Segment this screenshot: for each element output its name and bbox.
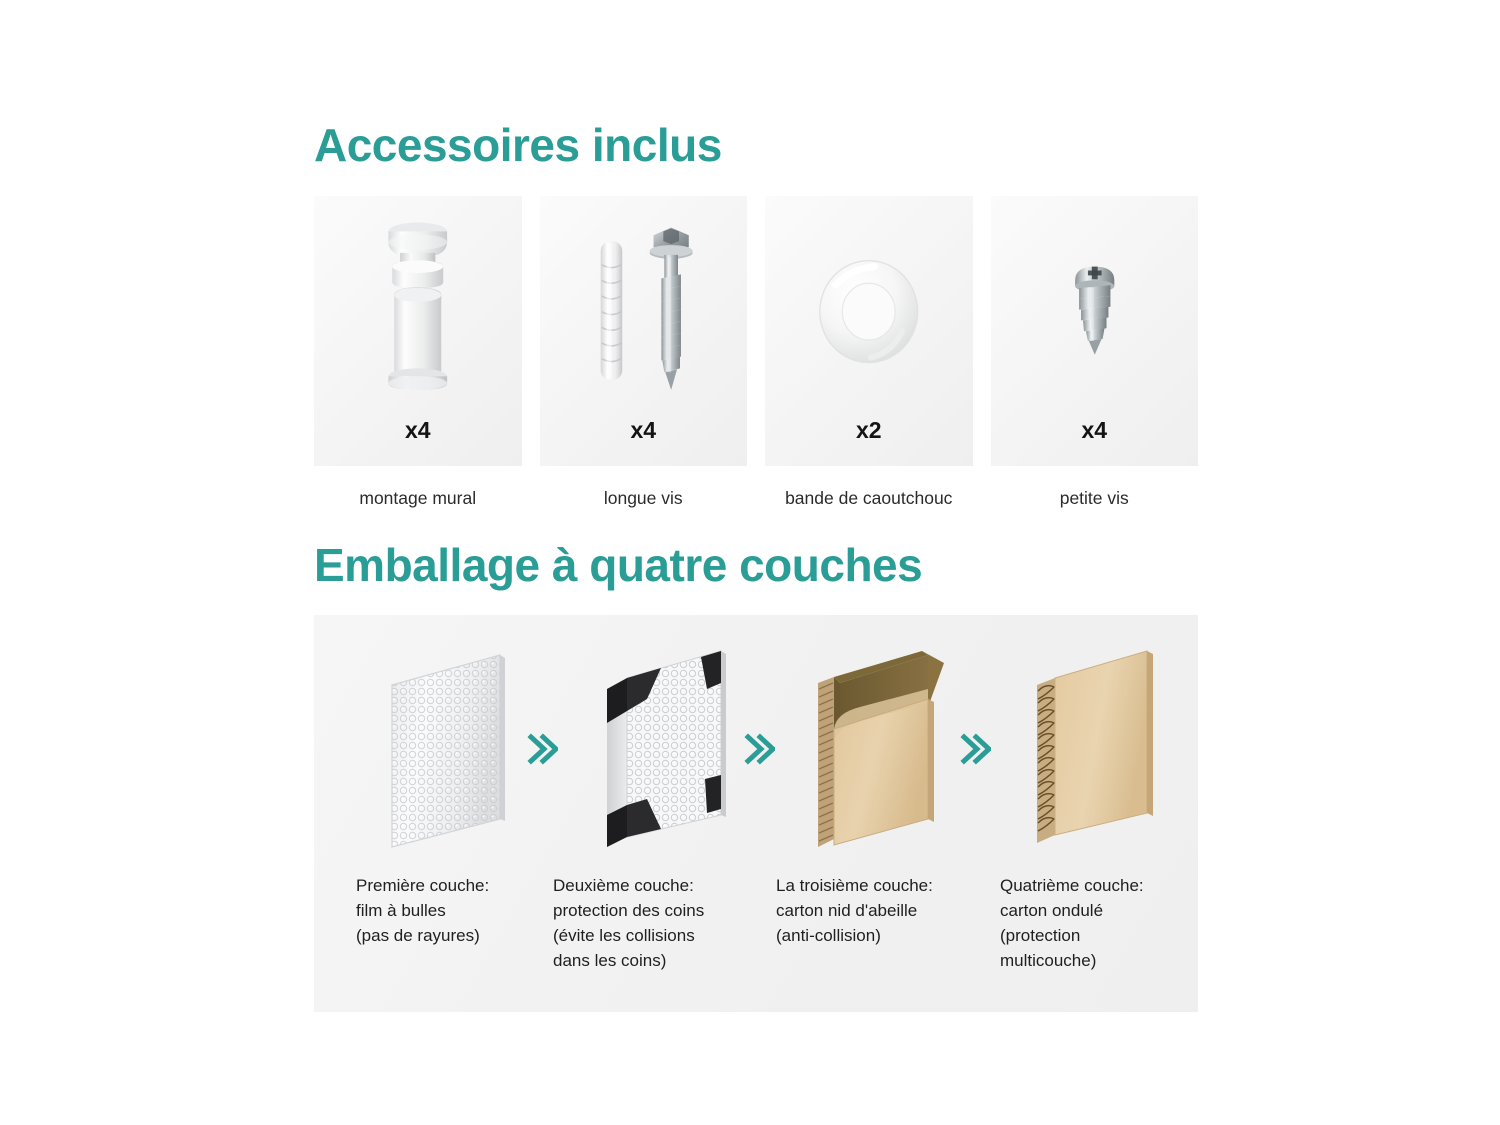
wall-mount-bracket-icon bbox=[314, 202, 522, 414]
caption-line: (pas de rayures) bbox=[356, 923, 561, 948]
caption-line: Deuxième couche: bbox=[553, 873, 758, 898]
double-chevron-right-icon bbox=[524, 729, 558, 769]
accessory-item: x4 montage mural bbox=[314, 196, 522, 509]
packaging-layer-caption: Première couche: film à bulles (pas de r… bbox=[356, 873, 561, 948]
double-chevron-right-icon bbox=[957, 729, 991, 769]
caption-line: dans les coins) bbox=[553, 948, 758, 973]
packaging-panel: Première couche: film à bulles (pas de r… bbox=[314, 615, 1198, 1012]
accessories-heading: Accessoires inclus bbox=[314, 118, 722, 172]
wall-plug-and-long-screw-icon bbox=[540, 202, 748, 414]
caption-line: (anti-collision) bbox=[776, 923, 981, 948]
small-screw-icon bbox=[991, 202, 1199, 414]
bubble-wrap-sheet-icon bbox=[372, 633, 532, 861]
accessories-section: x4 montage mural bbox=[314, 196, 1198, 509]
caption-line: film à bulles bbox=[356, 898, 561, 923]
accessory-quantity: x4 bbox=[991, 417, 1199, 444]
accessory-item: x2 bande de caoutchouc bbox=[765, 196, 973, 509]
accessory-item: x4 petite vis bbox=[991, 196, 1199, 509]
honeycomb-cardboard-icon bbox=[804, 633, 964, 861]
accessory-quantity: x4 bbox=[540, 417, 748, 444]
accessory-card: x2 bbox=[765, 196, 973, 466]
corner-protection-panel-icon bbox=[589, 633, 749, 861]
packaging-illustration-row bbox=[314, 633, 1198, 861]
caption-line: La troisième couche: bbox=[776, 873, 981, 898]
accessory-caption: montage mural bbox=[314, 488, 522, 509]
caption-line: carton nid d'abeille bbox=[776, 898, 981, 923]
packaging-layer-caption: Quatrième couche: carton ondulé (protect… bbox=[1000, 873, 1205, 974]
infographic-page: Accessoires inclus bbox=[0, 0, 1500, 1125]
caption-line: (évite les collisions bbox=[553, 923, 758, 948]
accessory-caption: longue vis bbox=[540, 488, 748, 509]
accessory-quantity: x2 bbox=[765, 417, 973, 444]
accessory-item: x4 longue vis bbox=[540, 196, 748, 509]
accessory-card: x4 bbox=[991, 196, 1199, 466]
caption-line: carton ondulé bbox=[1000, 898, 1205, 923]
accessory-card: x4 bbox=[540, 196, 748, 466]
packaging-layer-caption: Deuxième couche: protection des coins (é… bbox=[553, 873, 758, 974]
caption-line: multicouche) bbox=[1000, 948, 1205, 973]
caption-line: (protection bbox=[1000, 923, 1205, 948]
packaging-heading: Emballage à quatre couches bbox=[314, 538, 922, 592]
packaging-layer-caption: La troisième couche: carton nid d'abeill… bbox=[776, 873, 981, 948]
caption-line: Première couche: bbox=[356, 873, 561, 898]
accessory-caption: bande de caoutchouc bbox=[765, 488, 973, 509]
caption-line: protection des coins bbox=[553, 898, 758, 923]
caption-line: Quatrième couche: bbox=[1000, 873, 1205, 898]
accessory-quantity: x4 bbox=[314, 417, 522, 444]
double-chevron-right-icon bbox=[741, 729, 775, 769]
corrugated-cardboard-icon bbox=[1019, 633, 1179, 861]
accessory-caption: petite vis bbox=[991, 488, 1199, 509]
rubber-ring-icon bbox=[765, 202, 973, 414]
accessory-card: x4 bbox=[314, 196, 522, 466]
accessories-row: x4 montage mural bbox=[314, 196, 1198, 509]
